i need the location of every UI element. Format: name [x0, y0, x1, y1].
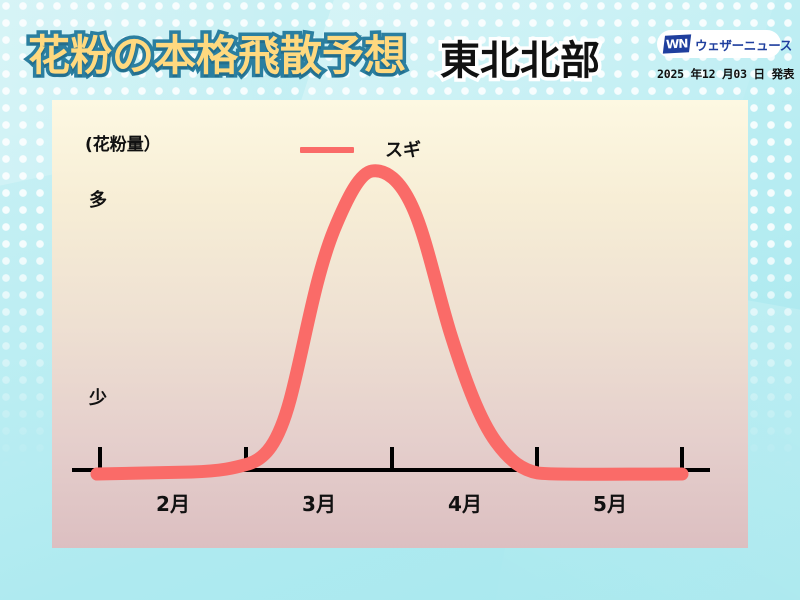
sugi-pollen-curve — [97, 171, 682, 474]
pollen-curve-plot — [52, 100, 748, 548]
brand-mark-text: WN — [666, 37, 688, 52]
page-title: 花粉の本格飛散予想 — [28, 22, 406, 83]
x-axis-label-month-4: 5月 — [565, 488, 655, 517]
poster-root: 花粉の本格飛散予想 東北北部 WN ウェザーニュース 2025 年12 月03 … — [0, 0, 800, 600]
x-axis-label-month-2: 3月 — [274, 488, 364, 517]
weathernews-logo-icon: WN — [663, 34, 691, 53]
region-title: 東北北部 — [440, 28, 600, 86]
brand-badge: WN ウェザーニュース — [657, 30, 781, 58]
chart-panel: (花粉量） 多 少 スギ 2月 3月 4月 5月 — [52, 100, 748, 548]
issue-date: 2025 年12 月03 日 発表 — [657, 66, 781, 82]
x-axis-label-month-1: 2月 — [128, 488, 218, 517]
brand-name: ウェザーニュース — [695, 35, 792, 54]
x-axis-label-month-3: 4月 — [420, 488, 510, 517]
